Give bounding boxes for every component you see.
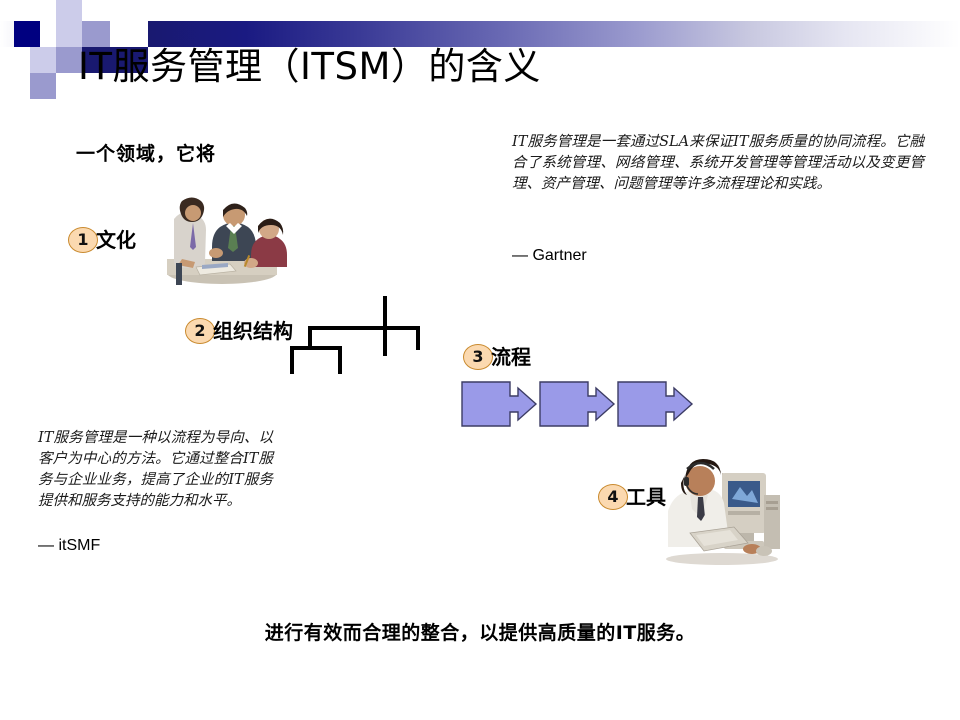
process-arrow-2 (540, 382, 614, 426)
computer-photo (660, 455, 785, 565)
process-arrow-1 (462, 382, 536, 426)
process-arrow-3 (618, 382, 692, 426)
process-arrows-graphic (460, 380, 695, 440)
pillar-badge-2: 2 (185, 318, 215, 344)
deco-square-light-3 (30, 47, 56, 73)
gartner-attribution: — Gartner (512, 247, 587, 265)
deco-square-mid-3 (30, 73, 56, 99)
pillar-label-structure: 组织结构 (213, 315, 293, 344)
deco-square-dark-1 (14, 21, 40, 47)
deco-square-light-1 (56, 0, 82, 21)
pillar-label-culture: 文化 (96, 224, 136, 253)
pillar-badge-1: 1 (68, 227, 98, 253)
gartner-quote-text: IT服务管理是一套通过SLA来保证IT服务质量的协同流程。它融合了系统管理、网络… (512, 132, 924, 195)
meeting-photo (148, 193, 293, 288)
itsmf-quote-text: IT服务管理是一种以流程为导向、以客户为中心的方法。它通过整合IT服务与企业业务… (38, 428, 273, 512)
left-subtitle: 一个领域，它将 (76, 139, 216, 166)
pillar-badge-3: 3 (463, 344, 493, 370)
pillar-badge-4: 4 (598, 484, 628, 510)
pillar-label-process: 流程 (491, 341, 531, 370)
page-title: IT服务管理（ITSM）的含义 (78, 44, 541, 90)
itsmf-attribution: — itSMF (38, 537, 100, 555)
org-chart-graphic (290, 296, 420, 376)
conclusion-text: 进行有效而合理的整合，以提供高质量的IT服务。 (0, 618, 960, 645)
